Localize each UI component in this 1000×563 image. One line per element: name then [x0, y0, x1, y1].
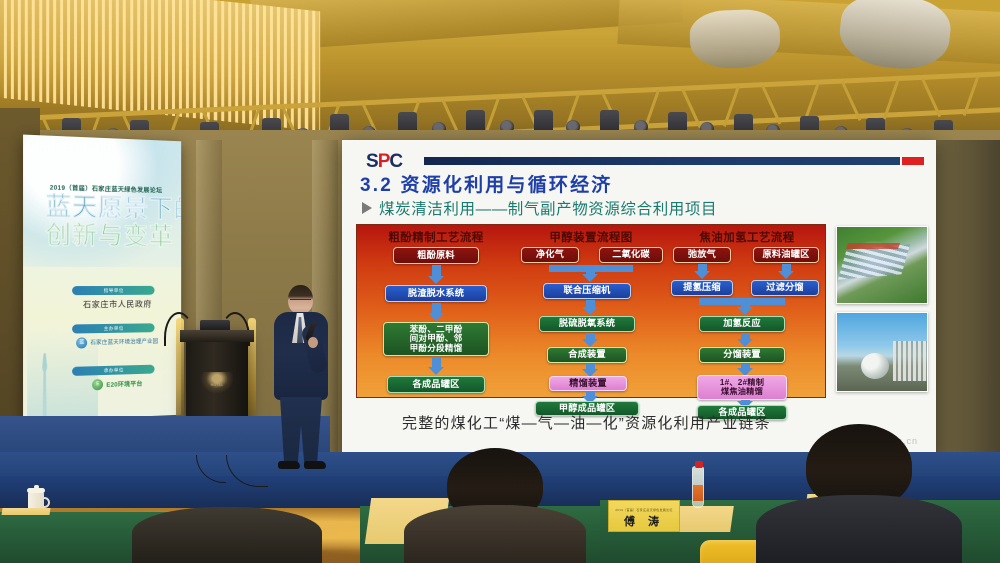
audience-head-right — [756, 424, 962, 563]
process-flow-panel: 粗酚精制工艺流程 粗酚原料 脱渣脱水系统 苯酚、二甲酚 间对甲酚、邻 甲酚分段精… — [356, 224, 826, 398]
flow-node-input: 弛放气 — [673, 247, 731, 263]
flow-arrow — [586, 265, 595, 275]
conference-hall-photo: 2019（首届）石家庄蓝天绿色发展论坛 蓝天愿景下的 创新与变革 指导单位 石家… — [0, 0, 1000, 563]
banner-headline-2: 创新与变革 — [46, 223, 181, 250]
name-card-sub: 2019（首届）石家庄蓝天绿色发展论坛 — [615, 508, 672, 512]
flow-arrow — [741, 400, 750, 402]
flow-arrow — [586, 392, 595, 397]
e20-logo-icon: E — [93, 379, 104, 390]
audience-head-center — [404, 448, 586, 563]
triangle-bullet-icon — [362, 202, 372, 214]
banner-org-guidance: 石家庄市人民政府 — [62, 298, 172, 311]
shoulders — [404, 505, 586, 563]
speaker — [268, 285, 334, 477]
banner-org-organizer: E E20环境平台 — [64, 376, 170, 391]
flowchart-title: 焦油加氢工艺流程 — [669, 229, 825, 245]
air-duct — [837, 0, 954, 74]
banner-pill-guidance: 指导单位 — [72, 286, 154, 295]
flow-arrow — [586, 364, 595, 370]
banner-pill-host: 主办单位 — [72, 323, 154, 333]
pen-on-table — [2, 508, 51, 515]
flowchart-crude-phenol: 粗酚精制工艺流程 粗酚原料 脱渣脱水系统 苯酚、二甲酚 间对甲酚、邻 甲酚分段精… — [361, 225, 511, 397]
podium-emblem: HOTEL — [200, 372, 234, 394]
speaker-shoe — [304, 461, 326, 469]
podium-top — [180, 330, 254, 342]
flow-node-input: 二氧化碳 — [599, 247, 663, 263]
audience-head-left — [132, 470, 322, 563]
banner-org-host: 蓝 石家庄蓝天环境治理产业园 — [64, 335, 170, 349]
flow-arrow — [698, 264, 707, 272]
flow-node-input: 净化气 — [521, 247, 579, 263]
speaker-shoe — [278, 461, 300, 469]
flow-arrow — [741, 333, 750, 340]
flowchart-methanol: 甲醇装置流程图 净化气 二氧化碳 联合压缩机 脱硫脱氧系统 合成装置 精馏装置 … — [515, 225, 667, 397]
shoulders — [132, 507, 322, 563]
water-bottle — [692, 466, 704, 508]
flowchart-tar-hydrogenation: 焦油加氢工艺流程 弛放气 原料油罐区 提氢压缩 过滤分馏 加氢反应 分馏装置 1… — [669, 225, 825, 397]
bottle-label — [693, 485, 703, 501]
flow-node: 过滤分馏 — [751, 280, 819, 296]
flow-node: 脱渣脱水系统 — [385, 285, 487, 302]
flowchart-title: 粗酚精制工艺流程 — [361, 229, 511, 245]
flow-arrow — [432, 303, 441, 314]
flow-node: 分馏装置 — [699, 347, 785, 363]
flow-arrow — [782, 264, 791, 272]
host-logo-icon: 蓝 — [76, 337, 87, 348]
flow-arrow — [432, 357, 441, 368]
shoulders — [756, 495, 962, 563]
air-duct — [689, 8, 781, 69]
flow-node: 精馏装置 — [549, 376, 627, 391]
header-bar-accent — [902, 157, 924, 165]
glasses-icon — [290, 299, 311, 304]
bottle-cap — [695, 461, 703, 468]
flow-arrow — [432, 265, 441, 277]
flow-node: 加氢反应 — [699, 316, 785, 332]
projection-screen: SPC 3.2 资源化利用与循环经济 煤炭清洁利用——制气副产物资源综合利用项目… — [342, 140, 936, 458]
flow-arrow — [741, 364, 750, 369]
flow-node: 1#、2#精制 煤焦油精馏 — [697, 375, 787, 400]
banner-pill-organizer: 承办单位 — [72, 365, 154, 376]
flow-node: 脱硫脱氧系统 — [539, 316, 635, 332]
flow-arrow — [586, 300, 595, 308]
aerial-plant-photo — [836, 226, 928, 304]
header-bar — [424, 157, 900, 165]
slide-bullet-row: 煤炭清洁利用——制气副产物资源综合利用项目 — [362, 197, 717, 219]
flow-arrow — [741, 298, 750, 308]
flow-node: 合成装置 — [547, 347, 627, 363]
presentation-slide: SPC 3.2 资源化利用与循环经济 煤炭清洁利用——制气副产物资源综合利用项目… — [342, 140, 936, 458]
slide-header: SPC — [366, 150, 930, 172]
flow-node: 各成品罐区 — [387, 376, 485, 393]
flow-node: 粗酚原料 — [393, 247, 479, 264]
right-wall-panel — [934, 140, 1000, 470]
flow-node: 提氢压缩 — [671, 280, 733, 296]
flow-node: 联合压缩机 — [543, 283, 631, 299]
flow-arrow — [586, 333, 595, 340]
mug-knob — [34, 485, 39, 489]
banner-org-host-label: 石家庄蓝天环境治理产业园 — [90, 337, 158, 346]
speaker-legs — [280, 397, 322, 465]
refinery-photo — [836, 312, 928, 392]
event-banner: 2019（首届）石家庄蓝天绿色发展论坛 蓝天愿景下的 创新与变革 指导单位 石家… — [23, 135, 181, 422]
flowchart-title: 甲醇装置流程图 — [515, 229, 667, 245]
name-card: 2019（首届）石家庄蓝天绿色发展论坛 傅 涛 — [608, 500, 680, 532]
banner-org-organizer-label: E20环境平台 — [106, 378, 142, 388]
speaker-hand — [308, 337, 318, 348]
name-card-name: 傅 涛 — [624, 513, 664, 529]
flow-node: 苯酚、二甲酚 间对甲酚、邻 甲酚分段精馏 — [383, 322, 489, 356]
slide-bullet-text: 煤炭清洁利用——制气副产物资源综合利用项目 — [379, 197, 717, 219]
flow-node-input: 原料油罐区 — [753, 247, 819, 263]
slide-title: 3.2 资源化利用与循环经济 — [360, 170, 613, 197]
banner-headline-1: 蓝天愿景下的 — [46, 195, 181, 223]
